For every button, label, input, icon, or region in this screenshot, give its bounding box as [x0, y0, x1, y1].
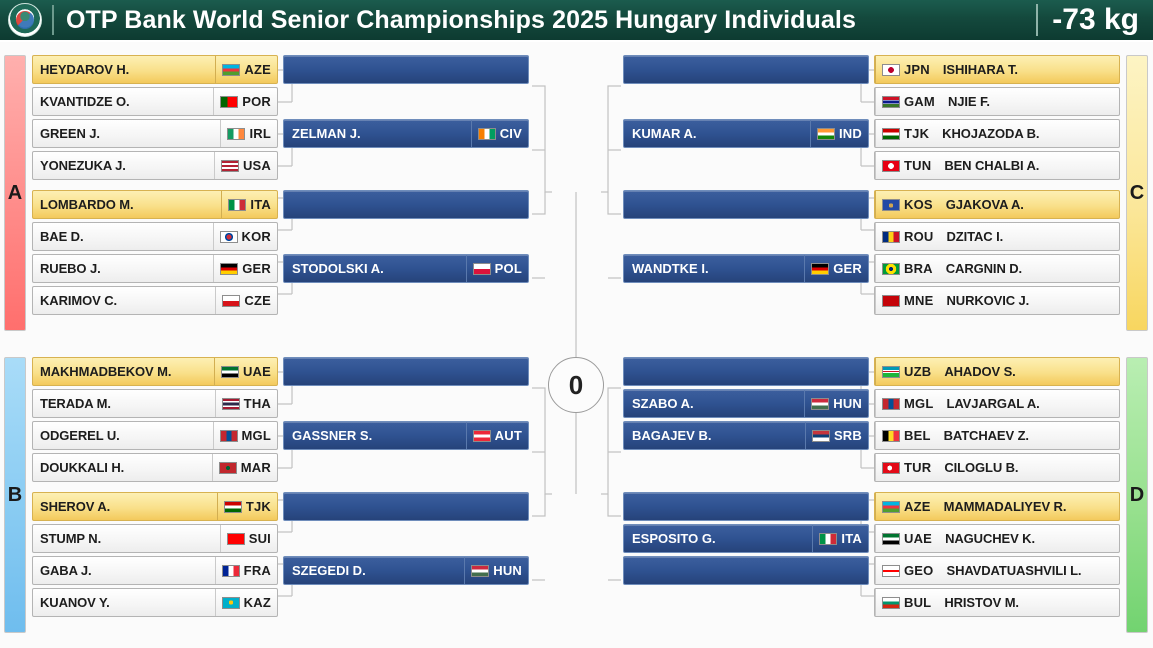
competitor-row[interactable]: RUEBO J.GER: [32, 254, 278, 283]
nation-block: MGL: [213, 422, 277, 449]
ijf-logo-icon: [8, 3, 42, 37]
nation-block: KOR: [213, 223, 278, 250]
nation-code: AUT: [495, 428, 522, 443]
competitor-row[interactable]: DOUKKALI H.MAR: [32, 453, 278, 482]
nation-block: MNE: [875, 287, 940, 314]
flag-icon-tha: [222, 398, 240, 410]
winner-row[interactable]: WANDTKE I.GER: [623, 254, 869, 283]
nation-code: CIV: [500, 126, 522, 141]
winner-slot-empty[interactable]: [283, 55, 529, 84]
nation-block: THA: [215, 390, 277, 417]
nation-block: CZE: [215, 287, 277, 314]
winner-row[interactable]: GASSNER S.AUT: [283, 421, 529, 450]
nation-block: IND: [810, 120, 868, 147]
nation-code: KAZ: [244, 595, 271, 610]
nation-code: SRB: [834, 428, 862, 443]
competitor-row[interactable]: BAE D.KOR: [32, 222, 278, 251]
competitor-name: DOUKKALI H.: [33, 460, 212, 475]
flag-icon-geo: [882, 565, 900, 577]
flag-icon-rou: [882, 231, 900, 243]
competitor-name: NJIE F.: [941, 94, 1119, 109]
nation-block: CIV: [471, 120, 528, 147]
competitor-row[interactable]: NJIE F.GAM: [874, 87, 1120, 116]
winner-slot-empty[interactable]: [623, 55, 869, 84]
competitor-row[interactable]: GJAKOVA A.KOS: [874, 190, 1120, 219]
pool-d: DAHADOV S.UZBLAVJARGAL A.MGLBATCHAEV Z.B…: [623, 357, 1153, 637]
winner-slot-empty[interactable]: [623, 492, 869, 521]
winner-row[interactable]: SZEGEDI D.HUN: [283, 556, 529, 585]
winner-name: WANDTKE I.: [624, 261, 804, 276]
nation-block: GAM: [875, 88, 941, 115]
pool-letter-a: A: [4, 55, 26, 331]
competitor-name: NAGUCHEV K.: [938, 531, 1119, 546]
weight-class-label: -73 kg: [1052, 3, 1139, 37]
flag-icon-ger: [220, 263, 238, 275]
nation-block: FRA: [215, 557, 277, 584]
nation-block: GER: [213, 255, 277, 282]
winner-name: STODOLSKI A.: [284, 261, 466, 276]
nation-block: AUT: [466, 422, 528, 449]
page-header: OTP Bank World Senior Championships 2025…: [0, 0, 1153, 42]
nation-code: TJK: [246, 499, 271, 514]
winner-row[interactable]: SZABO A.HUN: [623, 389, 869, 418]
final-score-value: 0: [569, 370, 583, 401]
nation-block: ITA: [812, 525, 868, 552]
nation-code: UAE: [243, 364, 271, 379]
flag-icon-mgl: [882, 398, 900, 410]
flag-icon-tjk: [882, 128, 900, 140]
competitor-row[interactable]: KHOJAZODA B.TJK: [874, 119, 1120, 148]
nation-block: AZE: [215, 56, 277, 83]
competitor-row[interactable]: TERADA M.THA: [32, 389, 278, 418]
winner-row[interactable]: BAGAJEV B.SRB: [623, 421, 869, 450]
competitor-row[interactable]: HRISTOV M.BUL: [874, 588, 1120, 617]
nation-block: KOS: [875, 191, 939, 218]
flag-icon-bra: [882, 263, 900, 275]
nation-code: ROU: [904, 229, 934, 244]
flag-icon-sui: [227, 533, 245, 545]
pool-letter-d: D: [1126, 357, 1148, 633]
nation-block: ITA: [221, 191, 277, 218]
competitor-row[interactable]: DZITAC I.ROU: [874, 222, 1120, 251]
nation-code: KOS: [904, 197, 933, 212]
competitor-name: GJAKOVA A.: [939, 197, 1119, 212]
competitor-name: MAKHMADBEKOV M.: [33, 364, 214, 379]
flag-icon-usa: [221, 160, 239, 172]
pool-letter-b: B: [4, 357, 26, 633]
final-score-circle: 0: [548, 357, 604, 413]
flag-icon-uae: [882, 533, 900, 545]
competitor-name: ISHIHARA T.: [936, 62, 1119, 77]
nation-code: HUN: [833, 396, 862, 411]
nation-code: TUN: [904, 158, 931, 173]
nation-code: THA: [244, 396, 271, 411]
weight-divider: [1036, 4, 1038, 36]
pool-c: CISHIHARA T.JPNNJIE F.GAMKHOJAZODA B.TJK…: [623, 55, 1153, 335]
nation-block: POL: [466, 255, 528, 282]
flag-icon-mar: [219, 462, 237, 474]
flag-icon-cze: [222, 295, 240, 307]
nation-code: ITA: [250, 197, 271, 212]
nation-code: HUN: [493, 563, 522, 578]
flag-icon-uzb: [882, 366, 900, 378]
flag-icon-kaz: [222, 597, 240, 609]
competitor-name: RUEBO J.: [33, 261, 213, 276]
winner-slot-empty[interactable]: [623, 357, 869, 386]
competitor-row[interactable]: KARIMOV C.CZE: [32, 286, 278, 315]
nation-block: USA: [214, 152, 277, 179]
nation-code: IND: [839, 126, 862, 141]
nation-block: HUN: [464, 557, 528, 584]
competitor-name: KHOJAZODA B.: [935, 126, 1119, 141]
competitor-row[interactable]: BATCHAEV Z.BEL: [874, 421, 1120, 450]
nation-block: JPN: [875, 56, 936, 83]
winner-name: GASSNER S.: [284, 428, 466, 443]
competitor-row[interactable]: YONEZUKA J.USA: [32, 151, 278, 180]
nation-code: MGL: [904, 396, 933, 411]
competitor-name: NURKOVIC J.: [940, 293, 1120, 308]
nation-code: GER: [242, 261, 271, 276]
competitor-name: CILOGLU B.: [937, 460, 1119, 475]
competitor-name: HEYDAROV H.: [33, 62, 215, 77]
nation-code: SUI: [249, 531, 271, 546]
flag-icon-tur: [882, 462, 900, 474]
nation-code: GER: [833, 261, 862, 276]
competitor-name: YONEZUKA J.: [33, 158, 214, 173]
nation-code: BRA: [904, 261, 933, 276]
competitor-row[interactable]: LOMBARDO M.ITA: [32, 190, 278, 219]
nation-block: BEL: [875, 422, 937, 449]
pool-letter-label: D: [1130, 484, 1144, 507]
winner-row[interactable]: KUMAR A.IND: [623, 119, 869, 148]
winner-name: ESPOSITO G.: [624, 531, 812, 546]
competitor-row[interactable]: AHADOV S.UZB: [874, 357, 1120, 386]
flag-icon-ita: [819, 533, 837, 545]
page-title: OTP Bank World Senior Championships 2025…: [66, 6, 1036, 35]
nation-code: GAM: [904, 94, 935, 109]
nation-block: HUN: [804, 390, 868, 417]
nation-code: USA: [243, 158, 271, 173]
nation-block: TUN: [875, 152, 937, 179]
flag-icon-tjk: [224, 501, 242, 513]
competitor-name: STUMP N.: [33, 531, 220, 546]
competitor-name: KUANOV Y.: [33, 595, 215, 610]
competitor-name: GABA J.: [33, 563, 215, 578]
nation-code: AZE: [904, 499, 931, 514]
pool-letter-c: C: [1126, 55, 1148, 331]
flag-icon-srb: [812, 430, 830, 442]
flag-icon-mne: [882, 295, 900, 307]
nation-code: ITA: [841, 531, 862, 546]
competitor-name: TERADA M.: [33, 396, 215, 411]
winner-name: SZABO A.: [624, 396, 804, 411]
winner-name: SZEGEDI D.: [284, 563, 464, 578]
pool-letter-label: A: [8, 182, 22, 205]
nation-code: IRL: [249, 126, 271, 141]
flag-icon-irl: [227, 128, 245, 140]
nation-code: JPN: [904, 62, 930, 77]
flag-icon-kos: [882, 199, 900, 211]
flag-icon-fra: [222, 565, 240, 577]
nation-block: BUL: [875, 589, 937, 616]
competitor-name: KVANTIDZE O.: [33, 94, 213, 109]
flag-icon-bel: [882, 430, 900, 442]
nation-block: SRB: [805, 422, 868, 449]
flag-icon-bul: [882, 597, 900, 609]
competitor-row[interactable]: CARGNIN D.BRA: [874, 254, 1120, 283]
competitor-row[interactable]: KUANOV Y.KAZ: [32, 588, 278, 617]
winner-name: BAGAJEV B.: [624, 428, 805, 443]
flag-icon-por: [220, 96, 238, 108]
competitor-row[interactable]: STUMP N.SUI: [32, 524, 278, 553]
competitor-row[interactable]: MAKHMADBEKOV M.UAE: [32, 357, 278, 386]
competitor-name: ODGEREL U.: [33, 428, 213, 443]
nation-code: GEO: [904, 563, 934, 578]
nation-block: TJK: [875, 120, 935, 147]
nation-code: MAR: [241, 460, 271, 475]
nation-code: FRA: [244, 563, 271, 578]
competitor-row[interactable]: SHEROV A.TJK: [32, 492, 278, 521]
competitor-row[interactable]: NURKOVIC J.MNE: [874, 286, 1120, 315]
header-divider: [52, 5, 54, 35]
competitor-name: LAVJARGAL A.: [939, 396, 1119, 411]
competitor-row[interactable]: ODGEREL U.MGL: [32, 421, 278, 450]
flag-icon-gam: [882, 96, 900, 108]
bracket-board: 0 AHEYDAROV H.AZEKVANTIDZE O.PORGREEN J.…: [0, 42, 1153, 648]
nation-code: KOR: [242, 229, 272, 244]
winner-row[interactable]: ZELMAN J.CIV: [283, 119, 529, 148]
nation-code: CZE: [244, 293, 271, 308]
nation-code: MGL: [242, 428, 271, 443]
competitor-name: SHEROV A.: [33, 499, 217, 514]
nation-code: POR: [242, 94, 271, 109]
nation-block: IRL: [220, 120, 277, 147]
competitor-row[interactable]: GREEN J.IRL: [32, 119, 278, 148]
competitor-row[interactable]: CILOGLU B.TUR: [874, 453, 1120, 482]
nation-block: GER: [804, 255, 868, 282]
winner-slot-empty[interactable]: [623, 556, 869, 585]
competitor-name: MAMMADALIYEV R.: [937, 499, 1119, 514]
nation-block: GEO: [875, 557, 940, 584]
nation-code: BUL: [904, 595, 931, 610]
competitor-name: HRISTOV M.: [937, 595, 1119, 610]
nation-block: MGL: [875, 390, 939, 417]
competitor-row[interactable]: KVANTIDZE O.POR: [32, 87, 278, 116]
winner-slot-empty[interactable]: [283, 357, 529, 386]
nation-code: POL: [495, 261, 522, 276]
winner-slot-empty[interactable]: [283, 492, 529, 521]
flag-icon-tun: [882, 160, 900, 172]
nation-code: BEL: [904, 428, 931, 443]
winner-slot-empty[interactable]: [283, 190, 529, 219]
nation-block: BRA: [875, 255, 939, 282]
flag-icon-kor: [220, 231, 238, 243]
winner-slot-empty[interactable]: [623, 190, 869, 219]
nation-block: UAE: [214, 358, 277, 385]
nation-block: AZE: [875, 493, 937, 520]
winner-name: KUMAR A.: [624, 126, 810, 141]
competitor-name: BAE D.: [33, 229, 213, 244]
pool-a: AHEYDAROV H.AZEKVANTIDZE O.PORGREEN J.IR…: [0, 55, 530, 335]
competitor-row[interactable]: HEYDAROV H.AZE: [32, 55, 278, 84]
competitor-row[interactable]: ISHIHARA T.JPN: [874, 55, 1120, 84]
competitor-row[interactable]: LAVJARGAL A.MGL: [874, 389, 1120, 418]
nation-block: POR: [213, 88, 277, 115]
competitor-name: AHADOV S.: [937, 364, 1119, 379]
flag-icon-ind: [817, 128, 835, 140]
nation-block: UZB: [875, 358, 937, 385]
winner-name: ZELMAN J.: [284, 126, 471, 141]
nation-code: UAE: [904, 531, 932, 546]
flag-icon-pol: [473, 263, 491, 275]
pool-letter-label: C: [1130, 182, 1144, 205]
nation-block: UAE: [875, 525, 938, 552]
nation-block: MAR: [212, 454, 277, 481]
nation-block: TJK: [217, 493, 277, 520]
pool-b: BMAKHMADBEKOV M.UAETERADA M.THAODGEREL U…: [0, 357, 530, 637]
competitor-name: SHAVDATUASHVILI L.: [940, 563, 1120, 578]
competitor-name: KARIMOV C.: [33, 293, 215, 308]
flag-icon-aze: [222, 64, 240, 76]
competitor-name: BATCHAEV Z.: [937, 428, 1119, 443]
flag-icon-hun: [471, 565, 489, 577]
nation-block: KAZ: [215, 589, 277, 616]
competitor-name: BEN CHALBI A.: [937, 158, 1119, 173]
competitor-row[interactable]: GABA J.FRA: [32, 556, 278, 585]
nation-code: TJK: [904, 126, 929, 141]
flag-icon-aut: [473, 430, 491, 442]
nation-code: TUR: [904, 460, 931, 475]
flag-icon-mgl: [220, 430, 238, 442]
flag-icon-jpn: [882, 64, 900, 76]
flag-icon-ita: [228, 199, 246, 211]
pool-letter-label: B: [8, 484, 22, 507]
nation-block: TUR: [875, 454, 937, 481]
competitor-name: GREEN J.: [33, 126, 220, 141]
nation-block: ROU: [875, 223, 940, 250]
competitor-row[interactable]: NAGUCHEV K.UAE: [874, 524, 1120, 553]
nation-block: SUI: [220, 525, 277, 552]
competitor-name: CARGNIN D.: [939, 261, 1119, 276]
flag-icon-civ: [478, 128, 496, 140]
flag-icon-aze: [882, 501, 900, 513]
flag-icon-hun: [811, 398, 829, 410]
nation-code: MNE: [904, 293, 934, 308]
winner-row[interactable]: ESPOSITO G.ITA: [623, 524, 869, 553]
competitor-row[interactable]: SHAVDATUASHVILI L.GEO: [874, 556, 1120, 585]
competitor-row[interactable]: BEN CHALBI A.TUN: [874, 151, 1120, 180]
competitor-row[interactable]: MAMMADALIYEV R.AZE: [874, 492, 1120, 521]
flag-icon-uae: [221, 366, 239, 378]
nation-code: UZB: [904, 364, 931, 379]
nation-code: AZE: [244, 62, 271, 77]
winner-row[interactable]: STODOLSKI A.POL: [283, 254, 529, 283]
competitor-name: LOMBARDO M.: [33, 197, 221, 212]
competitor-name: DZITAC I.: [940, 229, 1120, 244]
flag-icon-ger: [811, 263, 829, 275]
